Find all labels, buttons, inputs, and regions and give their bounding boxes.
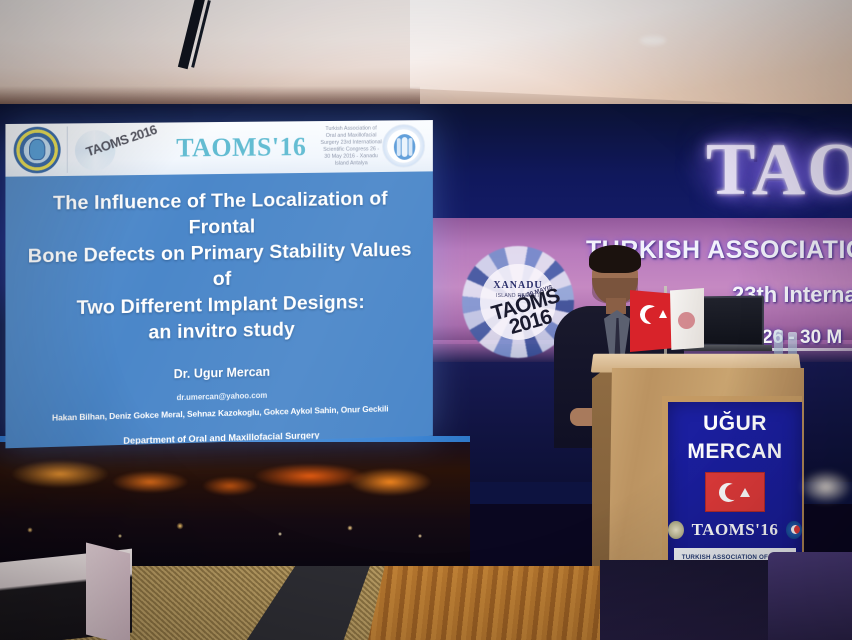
sign-event-row: TAOMS'16 [668, 520, 802, 540]
taoms-scribble-logo: TAOMS 2016 [73, 126, 164, 173]
sign-crescent-icon [719, 483, 738, 502]
sign-turkish-flag-icon [705, 472, 765, 512]
water-bottle [774, 330, 783, 354]
white-panel [86, 543, 130, 640]
sign-badge-right-icon [786, 521, 802, 539]
sign-badge-left-icon [668, 521, 684, 539]
projected-slide: TAOMS 2016 TAOMS'16 Turkish Association … [5, 120, 432, 448]
slide-coauthors: Hakan Bilhan, Deniz Gokce Meral, Sehnaz … [22, 403, 417, 424]
speaker-hair [589, 245, 641, 273]
slide-body: The Influence of The Localization of Fro… [5, 171, 432, 448]
slide-title-line-1: The Influence of The Localization of Fro… [22, 185, 417, 243]
conference-presentation-photo: TAO TURKISH ASSOCIATION O 23th Interna 2… [0, 0, 852, 640]
slide-presenter: Dr. Ugur Mercan [22, 361, 417, 385]
purple-seat [768, 552, 852, 640]
sign-name-line-1: UĞUR [668, 412, 802, 436]
water-bottle [788, 332, 797, 356]
backdrop-big-title: TAO [706, 128, 852, 213]
scribble-text: TAOMS 2016 [83, 123, 160, 159]
slide-header: TAOMS 2016 TAOMS'16 Turkish Association … [5, 120, 432, 177]
university-logo-icon [382, 124, 425, 168]
slide-brand: TAOMS'16 [176, 132, 306, 163]
ceiling-light-icon [640, 36, 666, 45]
sign-star-icon [740, 488, 750, 497]
association-emblem-icon [14, 127, 61, 174]
turkish-flag-star-icon [659, 310, 667, 318]
slide-title-line-2: Bone Defects on Primary Stability Values… [22, 237, 417, 296]
white-flag-emblem-icon [678, 312, 695, 329]
sign-event-badge: TAOMS'16 [692, 520, 779, 540]
slide-header-description: Turkish Association of Oral and Maxillof… [320, 125, 382, 167]
rear-stage-light [800, 470, 852, 504]
slide-title: The Influence of The Localization of Fro… [22, 185, 417, 348]
sign-name-line-2: MERCAN [668, 440, 802, 464]
